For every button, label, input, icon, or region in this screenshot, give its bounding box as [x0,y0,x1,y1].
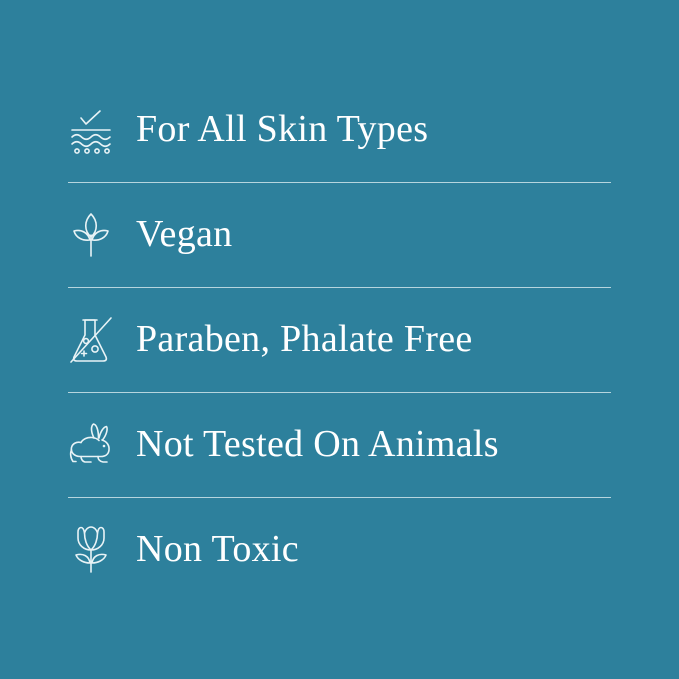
product-benefits-panel: For All Skin Types Vegan [0,0,679,679]
feature-label: Not Tested On Animals [136,425,499,465]
feature-row-non-toxic: Non Toxic [68,512,611,588]
rabbit-icon [68,419,114,471]
feature-label: Non Toxic [136,530,299,570]
feature-row-not-tested-on-animals: Not Tested On Animals [68,407,611,483]
feature-label: For All Skin Types [136,110,428,150]
feature-divider-3 [68,392,611,393]
flask-no-chemicals-icon [68,314,114,366]
feature-divider-4 [68,497,611,498]
feature-divider-1 [68,182,611,183]
tulip-flower-icon [68,524,114,576]
feature-list: For All Skin Types Vegan [68,92,611,588]
feature-label: Paraben, Phalate Free [136,320,473,360]
leaf-sprig-icon [68,209,114,261]
feature-divider-2 [68,287,611,288]
feature-row-vegan: Vegan [68,197,611,273]
feature-row-for-all-skin-types: For All Skin Types [68,92,611,168]
feature-label: Vegan [136,215,232,255]
feature-row-paraben-phalate-free: Paraben, Phalate Free [68,302,611,378]
skin-waves-check-icon [68,104,114,156]
